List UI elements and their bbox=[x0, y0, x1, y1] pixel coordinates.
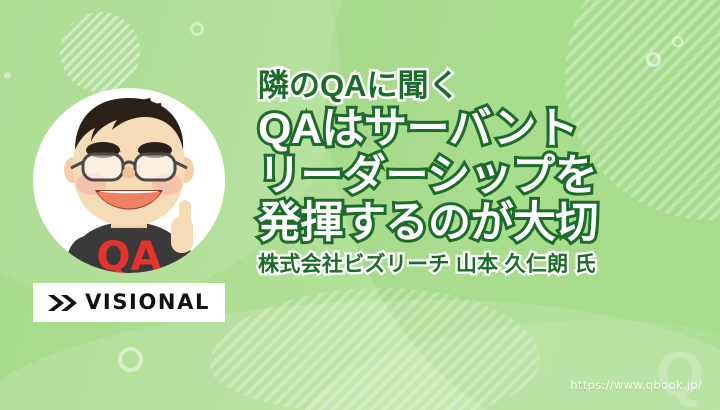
kicker-text: 隣のQAに聞く bbox=[258, 70, 706, 101]
ring-outline-icon bbox=[118, 347, 143, 372]
visional-wordmark: VISIONAL bbox=[85, 292, 210, 313]
dot-icon bbox=[4, 72, 11, 79]
byline-text: 株式会社ビズリーチ 山本 久仁朗 氏 bbox=[258, 254, 706, 275]
avatar: QA bbox=[33, 88, 225, 273]
ring-outline-mid-icon bbox=[190, 22, 204, 36]
ring-outline-small-icon bbox=[646, 52, 661, 67]
headline-line-1: QAはサーバント bbox=[258, 108, 706, 151]
avatar-illustration-icon: QA bbox=[33, 88, 225, 273]
headline-line-3: 発揮するのが大切 bbox=[258, 202, 706, 245]
striped-circle-small-icon bbox=[60, 12, 140, 92]
headline-line-2: リーダーシップを bbox=[258, 155, 706, 198]
q-watermark: Q bbox=[656, 344, 702, 406]
headline-block: 隣のQAに聞く QAはサーバント リーダーシップを 発揮するのが大切 株式会社ビ… bbox=[258, 70, 706, 275]
double-chevron-right-icon bbox=[48, 294, 78, 312]
site-url[interactable]: https://www.qbook.jp/ bbox=[570, 378, 702, 392]
promo-banner: Q bbox=[0, 0, 720, 410]
visional-logo: VISIONAL bbox=[33, 283, 225, 322]
avatar-shirt-label: QA bbox=[97, 234, 162, 273]
ring-outline-tiny-icon bbox=[672, 36, 683, 47]
